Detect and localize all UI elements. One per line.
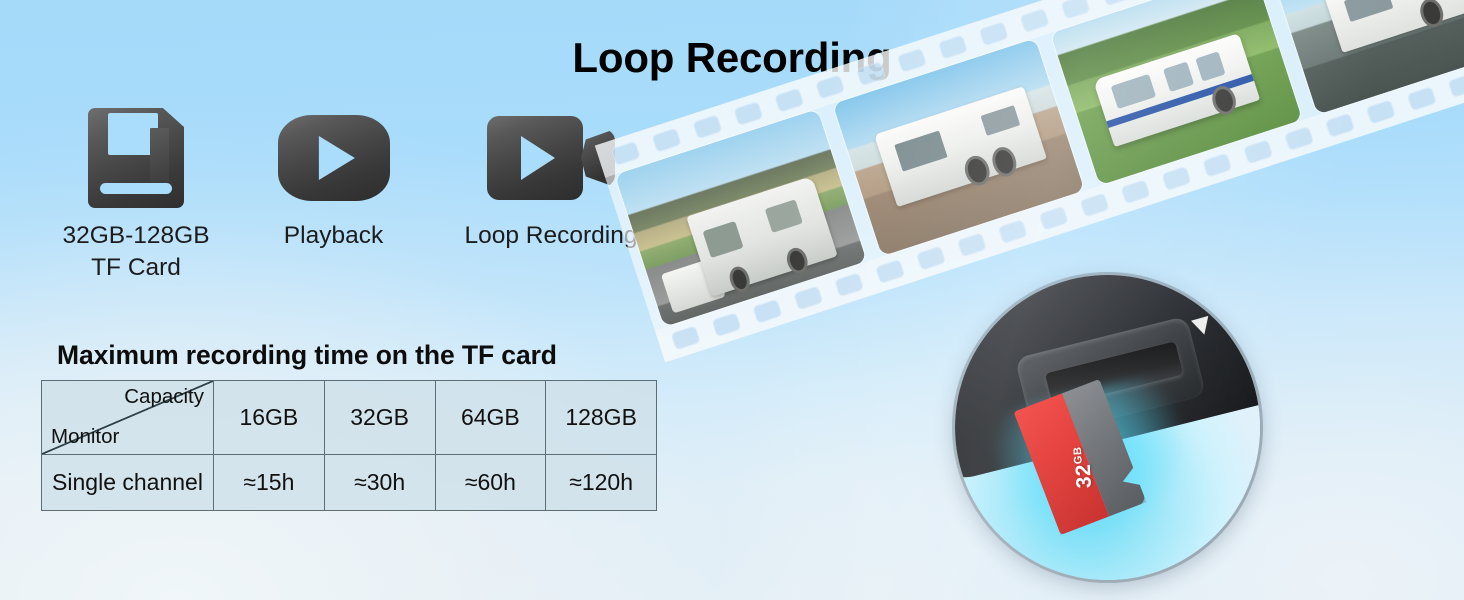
recording-time-section: Maximum recording time on the TF card Ca… (41, 340, 657, 511)
sprocket-hole (1284, 126, 1314, 151)
sprocket-hole (1161, 166, 1191, 191)
film-frame-photo-caravan (1050, 0, 1302, 185)
table-header-capacity-0: 16GB (214, 381, 325, 455)
sd-card-icon-wrap (36, 108, 236, 208)
table-row-label: Single channel (42, 455, 214, 511)
sd-card-shutter-notch (150, 128, 168, 183)
sprocket-hole (1407, 86, 1437, 111)
table-cell-0-0: ≈15h (214, 455, 325, 511)
table-cell-0-2: ≈60h (435, 455, 546, 511)
sprocket-hole (1039, 206, 1069, 231)
sprocket-hole (793, 285, 823, 310)
magnifier-circle: 32GB (955, 275, 1260, 580)
photo-wheel (1209, 83, 1240, 118)
microsd-card-capacity-label: 32GB (1071, 445, 1097, 488)
table-cell-0-1: ≈30h (324, 455, 435, 511)
sprocket-hole (1202, 153, 1232, 178)
sprocket-hole (774, 88, 804, 113)
sprocket-hole (1120, 179, 1150, 204)
play-button-icon-wrap (241, 108, 426, 208)
sprocket-hole (711, 312, 741, 337)
feature-label-playback: Playback (241, 220, 426, 252)
sprocket-hole (1366, 99, 1396, 124)
sprocket-hole (1060, 0, 1090, 20)
sd-card-label-bar (100, 183, 171, 194)
sprocket-hole (671, 325, 701, 350)
sprocket-hole (692, 114, 722, 139)
table-header-capacity-2: 64GB (435, 381, 546, 455)
photo-caravan (1050, 0, 1302, 185)
photo-wheel (726, 264, 753, 295)
sprocket-hole (998, 219, 1028, 244)
photo-rv-body (874, 86, 1048, 208)
sprocket-hole (733, 101, 763, 126)
photo-wheel (989, 144, 1021, 179)
camera-play-triangle (521, 136, 555, 180)
sprocket-hole (1325, 113, 1355, 138)
table-header-capacity-3: 128GB (546, 381, 657, 455)
video-camera-icon-wrap (426, 108, 676, 208)
corner-capacity-label: Capacity (124, 385, 204, 409)
sprocket-hole (1101, 0, 1131, 7)
sprocket-hole (916, 246, 946, 271)
table-header-row: Capacity Monitor 16GB 32GB 64GB 128GB (42, 381, 657, 455)
photo-rv-body (687, 176, 838, 296)
sprocket-hole (834, 272, 864, 297)
table-cell-0-3: ≈120h (546, 455, 657, 511)
table-heading: Maximum recording time on the TF card (57, 340, 657, 371)
corner-monitor-label: Monitor (51, 425, 119, 449)
sd-card-icon (88, 108, 184, 208)
play-button-icon (278, 115, 390, 201)
sprocket-hole (1079, 192, 1109, 217)
play-triangle (318, 136, 354, 180)
sprocket-hole (1020, 8, 1050, 33)
film-sprocket-row-top (595, 0, 1464, 178)
feature-loop-recording: Loop Recording (426, 108, 676, 252)
feature-tf-card: 32GB-128GB TF Card (36, 108, 236, 284)
feature-icon-row: 32GB-128GB TF Card Playback Loop Recordi… (36, 108, 676, 293)
table-corner-cell: Capacity Monitor (42, 381, 214, 455)
sprocket-hole (1243, 139, 1273, 164)
photo-caravan-stripe (1106, 74, 1254, 127)
sprocket-hole (752, 299, 782, 324)
feature-playback: Playback (241, 108, 426, 252)
recording-time-table: Capacity Monitor 16GB 32GB 64GB 128GB Si… (41, 380, 657, 511)
table-header-capacity-1: 32GB (324, 381, 435, 455)
page-title: Loop Recording (0, 34, 1464, 82)
camera-lens (581, 129, 615, 187)
sprocket-hole (875, 259, 905, 284)
sprocket-hole (957, 232, 987, 257)
table-row: Single channel ≈15h ≈30h ≈60h ≈120h (42, 455, 657, 511)
photo-wheel (962, 153, 994, 188)
photo-wheel (784, 245, 811, 276)
photo-wheel (1417, 0, 1447, 30)
feature-label-loop-recording: Loop Recording (426, 220, 676, 252)
video-camera-icon (487, 116, 615, 200)
infographic-canvas: Loop Recording 32GB-128GB TF Card Playba… (0, 0, 1464, 600)
feature-label-tf-card: 32GB-128GB TF Card (36, 220, 236, 284)
